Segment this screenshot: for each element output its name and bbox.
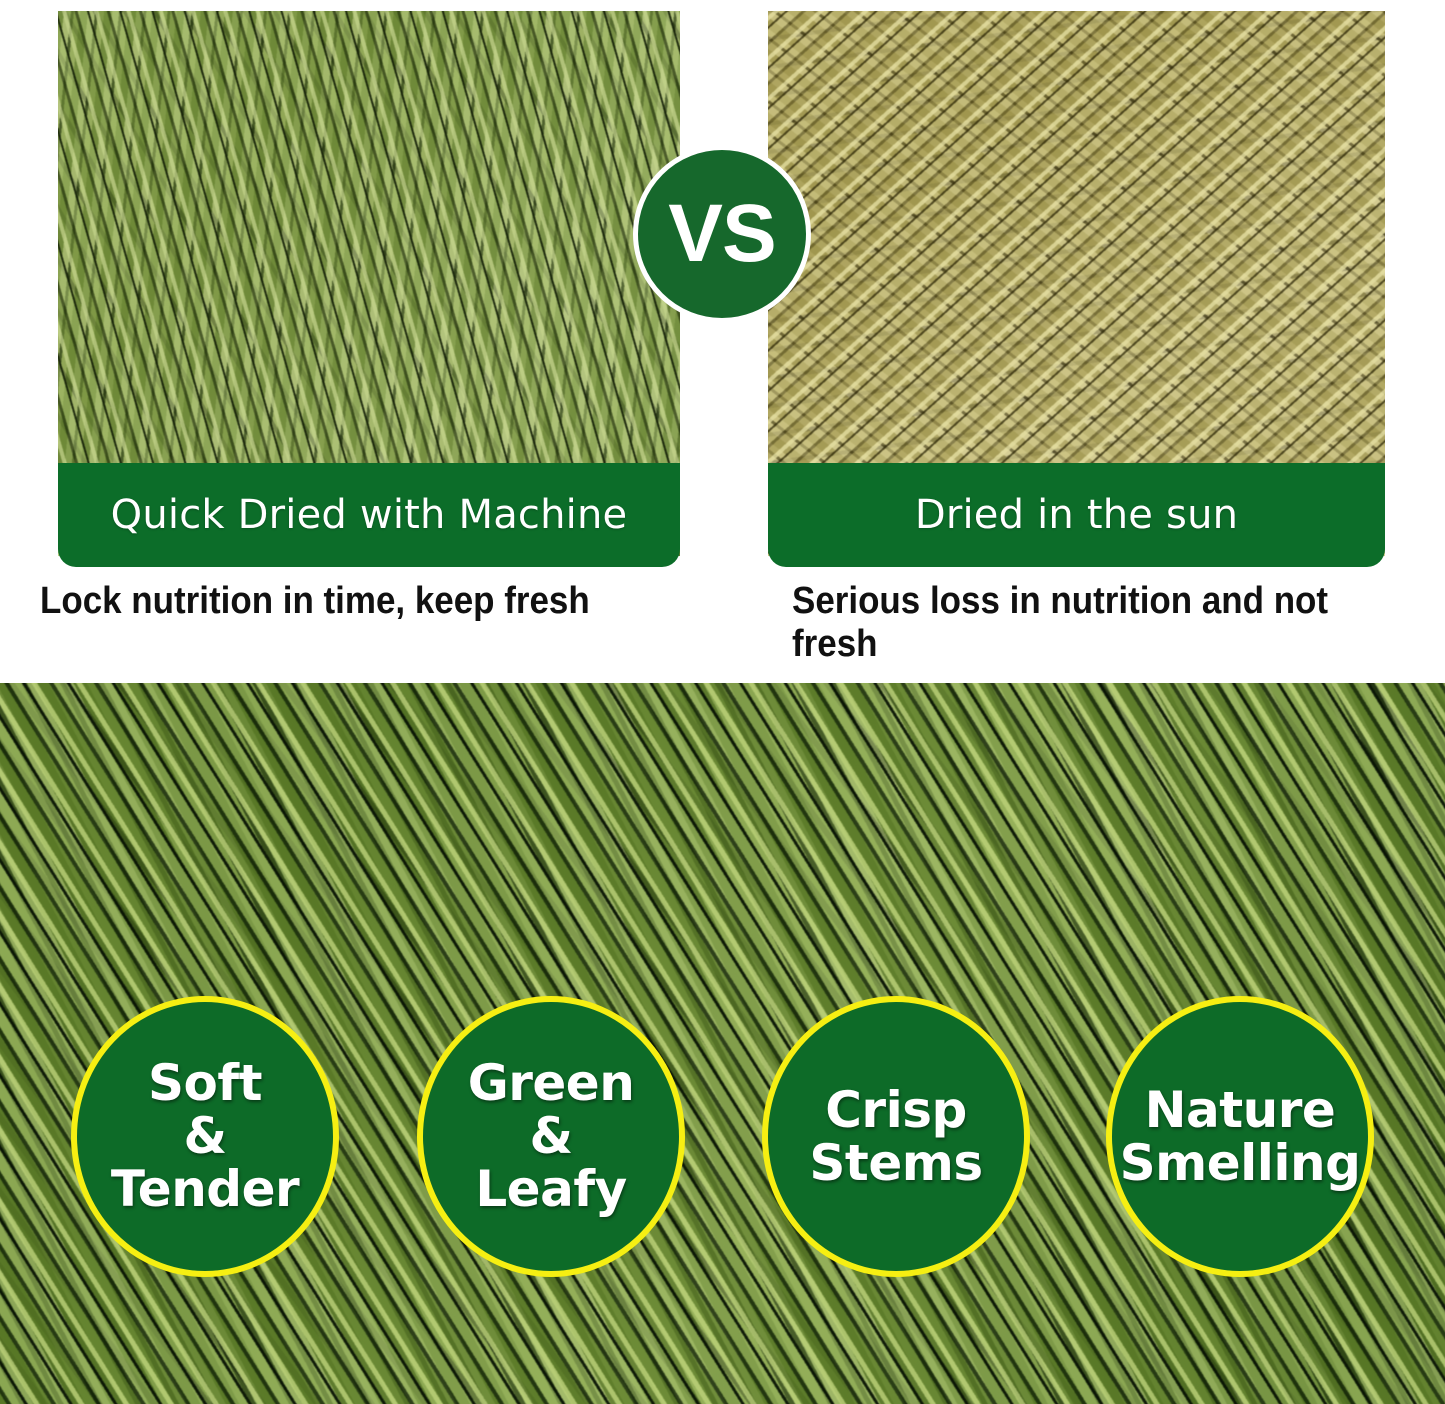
feature-badge-label: Nature Smelling: [1114, 1084, 1367, 1190]
machine-dried-label-text: Quick Dried with Machine: [111, 492, 628, 538]
vs-badge: VS: [633, 145, 811, 323]
feature-badge-label: Crisp Stems: [803, 1084, 988, 1190]
sun-dried-label-bar: Dried in the sun: [768, 463, 1385, 567]
product-infographic-page: Quick Dried with Machine Dried in the su…: [0, 0, 1445, 1404]
feature-badge-label: Soft & Tender: [105, 1057, 305, 1216]
machine-dried-caption: Lock nutrition in time, keep fresh: [40, 580, 721, 623]
feature-badge-label: Green & Leafy: [462, 1057, 641, 1216]
comparison-panel-sun-dried: Dried in the sun: [768, 11, 1385, 556]
comparison-section: Quick Dried with Machine Dried in the su…: [0, 0, 1445, 683]
comparison-panel-machine-dried: Quick Dried with Machine: [58, 11, 680, 556]
sun-dried-label-text: Dried in the sun: [915, 492, 1238, 538]
machine-dried-label-bar: Quick Dried with Machine: [58, 463, 680, 567]
sun-dried-caption: Serious loss in nutrition and not fresh: [792, 580, 1381, 665]
feature-badge-soft-tender: Soft & Tender: [71, 996, 339, 1277]
vs-badge-text: VS: [668, 193, 775, 275]
feature-badges-row: Soft & Tender Green & Leafy Crisp Stems …: [0, 683, 1445, 1404]
hero-section: Soft & Tender Green & Leafy Crisp Stems …: [0, 683, 1445, 1404]
feature-badge-nature-smelling: Nature Smelling: [1106, 996, 1374, 1277]
feature-badge-green-leafy: Green & Leafy: [417, 996, 685, 1277]
feature-badge-crisp-stems: Crisp Stems: [762, 996, 1030, 1277]
